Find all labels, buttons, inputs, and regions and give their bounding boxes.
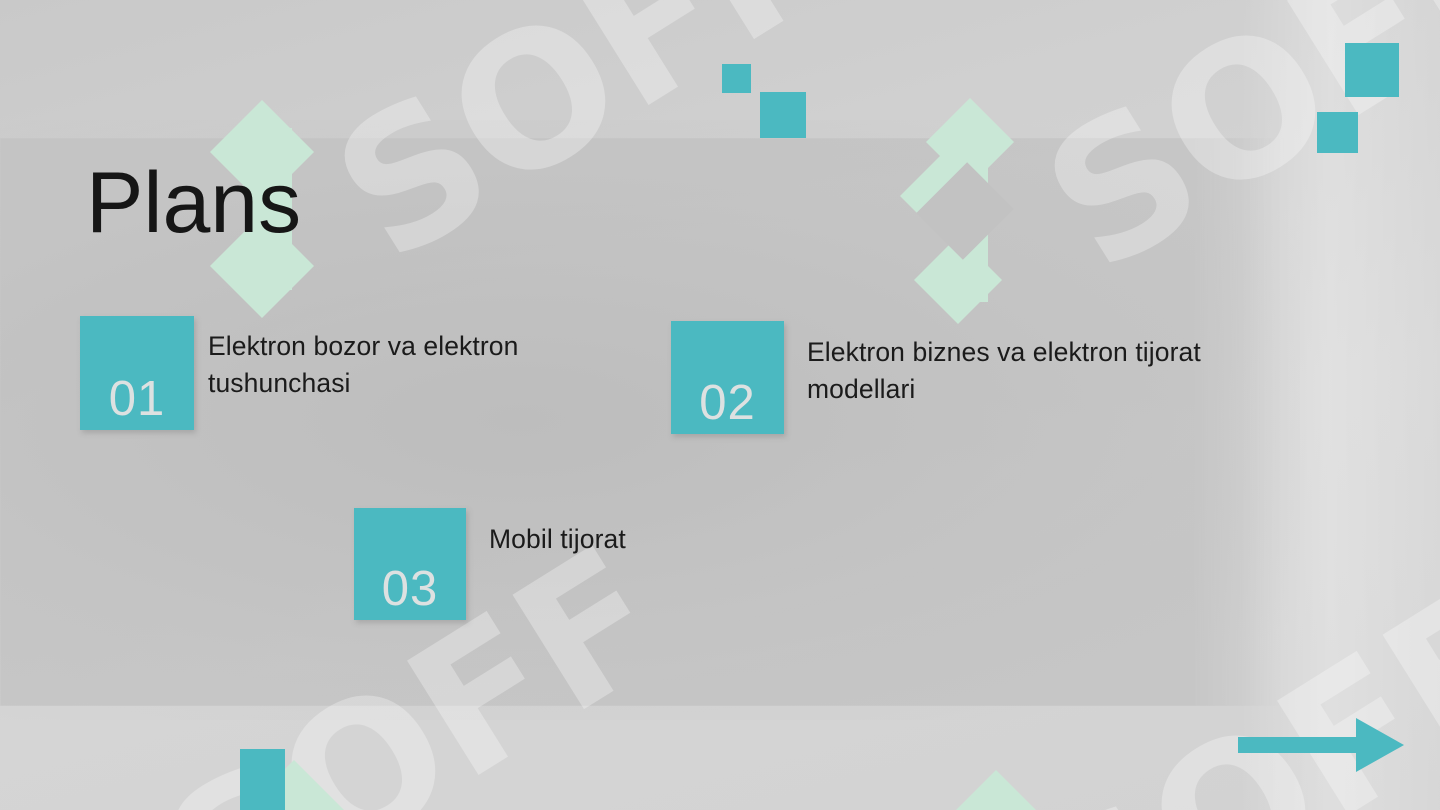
plan-number-box: 03 <box>354 508 466 620</box>
plan-label: Elektron bozor va elektron tushunchasi <box>208 328 620 402</box>
decor-square <box>722 64 751 93</box>
decor-square <box>240 749 285 810</box>
plan-label: Elektron biznes va elektron tijorat mode… <box>807 334 1227 408</box>
presentation-slide: SOFF SOFF SOFF SOFF <box>0 0 1440 810</box>
decor-square <box>1345 43 1399 97</box>
plan-number: 01 <box>80 375 194 424</box>
plan-number-box: 02 <box>671 321 784 434</box>
plan-number: 02 <box>671 379 784 428</box>
page-title: Plans <box>86 160 301 246</box>
decor-square <box>1317 112 1358 153</box>
decor-square <box>760 92 806 138</box>
plan-label: Mobil tijorat <box>489 521 909 558</box>
plan-number: 03 <box>354 565 466 614</box>
plan-number-box: 01 <box>80 316 194 430</box>
next-arrow-icon[interactable] <box>1238 716 1406 774</box>
